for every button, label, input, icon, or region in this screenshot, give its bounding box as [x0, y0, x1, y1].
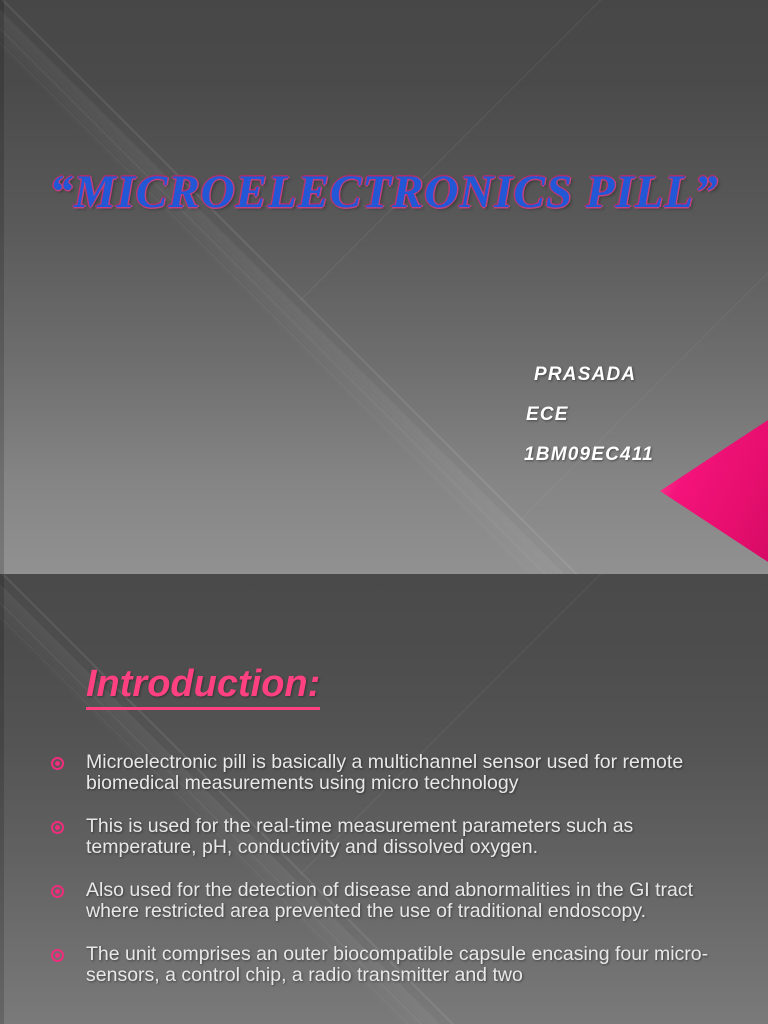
bullet-point-icon — [51, 757, 64, 770]
title-slide: “MICROELECTRONICS PILL” PRASADA ECE 1BM0… — [0, 0, 768, 574]
list-item-text: The unit comprises an outer biocompatibl… — [86, 944, 738, 986]
list-item: This is used for the real-time measureme… — [48, 816, 738, 858]
pink-triangle-decoration — [660, 420, 768, 562]
background-streaks — [0, 0, 768, 574]
background-wedge — [0, 0, 768, 574]
diagonal-streak — [300, 0, 768, 301]
author-block: PRASADA ECE 1BM09EC411 — [524, 355, 654, 475]
author-department: ECE — [524, 395, 654, 435]
left-edge-strip — [0, 0, 4, 574]
presentation-title: “MICROELECTRONICS PILL” — [0, 165, 768, 219]
bullet-point-icon — [51, 885, 64, 898]
list-item-text: Also used for the detection of disease a… — [86, 880, 738, 922]
diagonal-streak — [0, 36, 768, 574]
list-item: Microelectronic pill is basically a mult… — [48, 752, 738, 794]
section-heading: Introduction: — [86, 664, 320, 710]
author-roll-number: 1BM09EC411 — [524, 435, 654, 475]
diagonal-streak — [0, 0, 768, 574]
slide-deck: “MICROELECTRONICS PILL” PRASADA ECE 1BM0… — [0, 0, 768, 1024]
bullet-point-icon — [51, 949, 64, 962]
left-edge-strip — [0, 574, 4, 1024]
bullet-point-icon — [51, 821, 64, 834]
bullet-list: Microelectronic pill is basically a mult… — [48, 752, 738, 1008]
list-item: Also used for the detection of disease a… — [48, 880, 738, 922]
diagonal-streak — [0, 22, 768, 574]
author-name: PRASADA — [524, 355, 654, 395]
list-item: The unit comprises an outer biocompatibl… — [48, 944, 738, 986]
list-item-text: This is used for the real-time measureme… — [86, 816, 738, 858]
list-item-text: Microelectronic pill is basically a mult… — [86, 752, 738, 794]
